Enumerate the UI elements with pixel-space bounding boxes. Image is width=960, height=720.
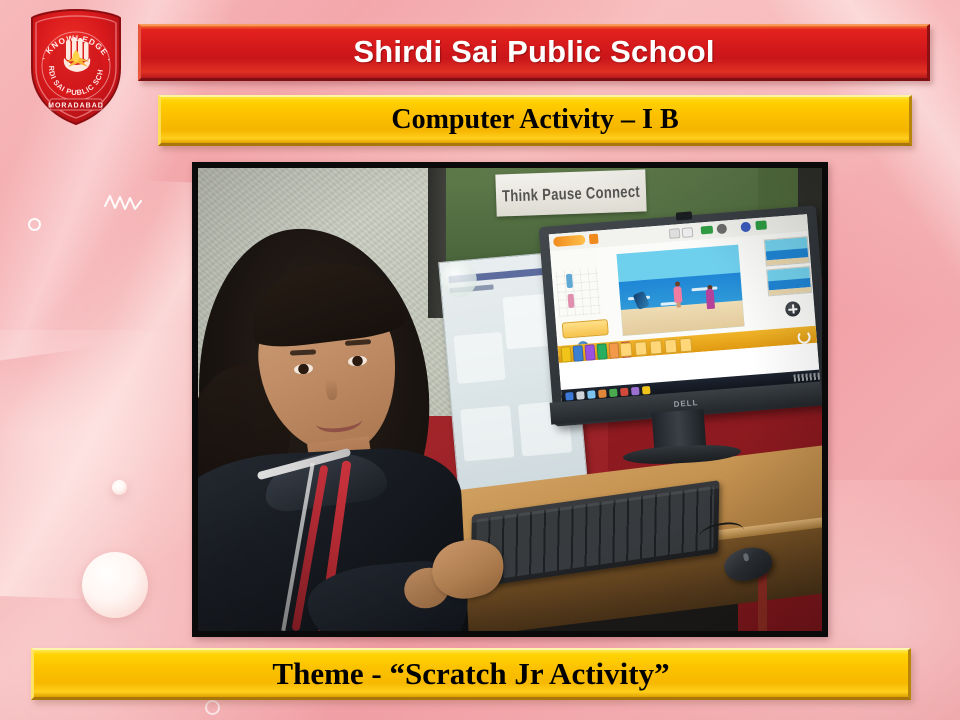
photo-vignette: [198, 168, 822, 631]
activity-subtitle-banner: Computer Activity – I B: [158, 95, 912, 146]
activity-subtitle-text: Computer Activity – I B: [161, 97, 909, 143]
school-title-banner: Shirdi Sai Public School: [138, 24, 930, 81]
school-title-text: Shirdi Sai Public School: [141, 26, 927, 78]
svg-text:MORADABAD: MORADABAD: [48, 102, 104, 109]
decorative-bubble-small: [112, 480, 127, 495]
decorative-ring-icon: [205, 700, 220, 715]
school-logo: FAITH · KNOWLEDGE · DUTY SHIRDI SAI PUBL…: [24, 6, 128, 128]
decorative-bubble-large: [82, 552, 148, 618]
slide-canvas: FAITH · KNOWLEDGE · DUTY SHIRDI SAI PUBL…: [0, 0, 960, 720]
zigzag-squiggle-icon: [104, 192, 142, 214]
activity-photo-frame: Think Pause Connect: [192, 162, 828, 637]
decorative-ring-icon: [28, 218, 41, 231]
theme-text: Theme - “Scratch Jr Activity”: [34, 650, 908, 697]
activity-photo: Think Pause Connect: [198, 168, 822, 631]
school-crest-icon: FAITH · KNOWLEDGE · DUTY SHIRDI SAI PUBL…: [24, 6, 128, 128]
theme-banner: Theme - “Scratch Jr Activity”: [31, 648, 911, 700]
